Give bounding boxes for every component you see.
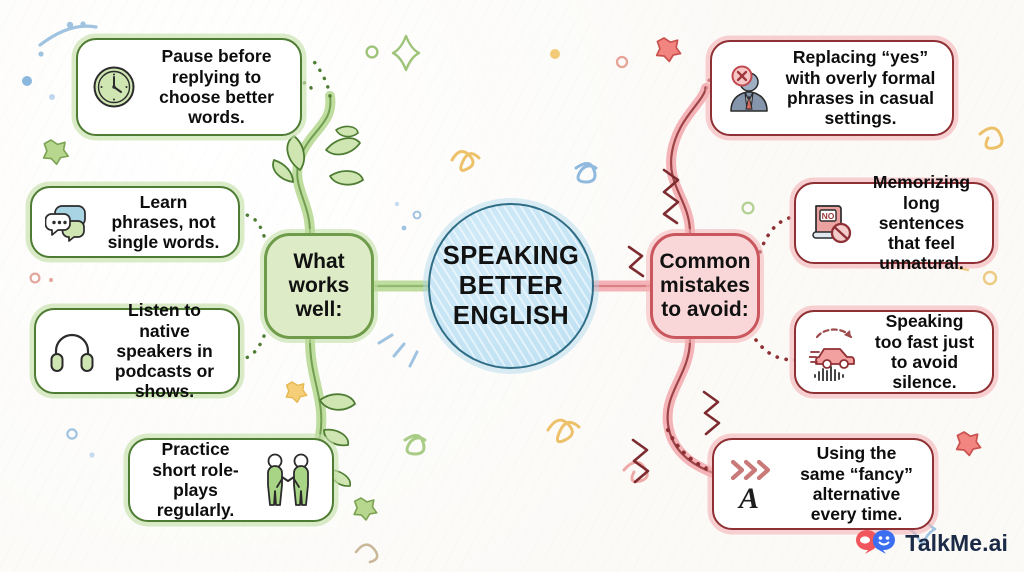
mistake-card-speaking-too-fast[interactable]: Speaking too fast just to avoid silence. xyxy=(794,310,994,394)
mistake-card-text: Speaking too fast just to avoid silence. xyxy=(870,311,979,392)
red-branch-bottom xyxy=(633,340,722,482)
speech-bubbles-icon xyxy=(45,201,93,243)
branch-hub-label: Common mistakes to avoid: xyxy=(660,250,751,322)
branch-hub-common-mistakes[interactable]: Common mistakes to avoid: xyxy=(650,233,760,339)
mistake-card-same-fancy-alternative[interactable]: A Using the same “fancy” alternative eve… xyxy=(712,438,934,530)
branch-hub-label: What works well: xyxy=(289,250,350,322)
tip-card-listen-to-native-speakers[interactable]: Listen to native speakers in podcasts or… xyxy=(34,308,240,394)
tip-card-practice-role-plays[interactable]: Practice short role-plays regularly. xyxy=(128,438,334,522)
tip-card-text: Listen to native speakers in podcasts or… xyxy=(104,300,225,401)
tip-card-learn-phrases[interactable]: Learn phrases, not single words. xyxy=(30,186,240,258)
mistake-card-replacing-yes[interactable]: Replacing “yes” with overly formal phras… xyxy=(710,40,954,136)
svg-text:A: A xyxy=(737,482,759,514)
logo-bubbles-icon xyxy=(854,527,898,560)
mistake-card-memorizing-long-sentences[interactable]: NO Memorizing long sentences that feel u… xyxy=(794,182,994,264)
speeding-car-soundwave-icon xyxy=(809,323,861,381)
branch-hub-what-works-well[interactable]: What works well: xyxy=(264,233,374,339)
link-right-3 xyxy=(756,340,796,360)
center-node[interactable]: SPEAKING BETTER ENGLISH xyxy=(428,203,594,369)
infographic-canvas: SPEAKING BETTER ENGLISH What works well:… xyxy=(0,0,1024,572)
tip-card-pause-before-replying[interactable]: Pause before replying to choose better w… xyxy=(76,38,302,136)
mistake-card-text: Memorizing long sentences that feel unna… xyxy=(864,172,979,273)
handshake-people-icon xyxy=(257,451,319,509)
link-left-2 xyxy=(238,214,264,236)
logo-text: TalkMe.ai xyxy=(905,530,1008,557)
mistake-card-text: Using the same “fancy” alternative every… xyxy=(794,443,919,524)
center-title: SPEAKING BETTER ENGLISH xyxy=(443,241,579,331)
chevrons-script-a-icon: A xyxy=(727,454,785,514)
clock-icon xyxy=(91,64,137,110)
tip-card-text: Learn phrases, not single words. xyxy=(102,192,225,253)
mistake-card-text: Replacing “yes” with overly formal phras… xyxy=(782,47,939,128)
link-right-2 xyxy=(760,216,798,252)
talkme-logo[interactable]: TalkMe.ai xyxy=(854,527,1008,560)
headphones-icon xyxy=(49,329,95,373)
no-book-prohibited-icon: NO xyxy=(809,200,855,246)
svg-text:NO: NO xyxy=(822,211,835,221)
tip-card-text: Pause before replying to choose better w… xyxy=(146,46,287,127)
formal-businessman-blocked-icon xyxy=(725,63,773,113)
tip-card-text: Practice short role-plays regularly. xyxy=(143,439,248,520)
